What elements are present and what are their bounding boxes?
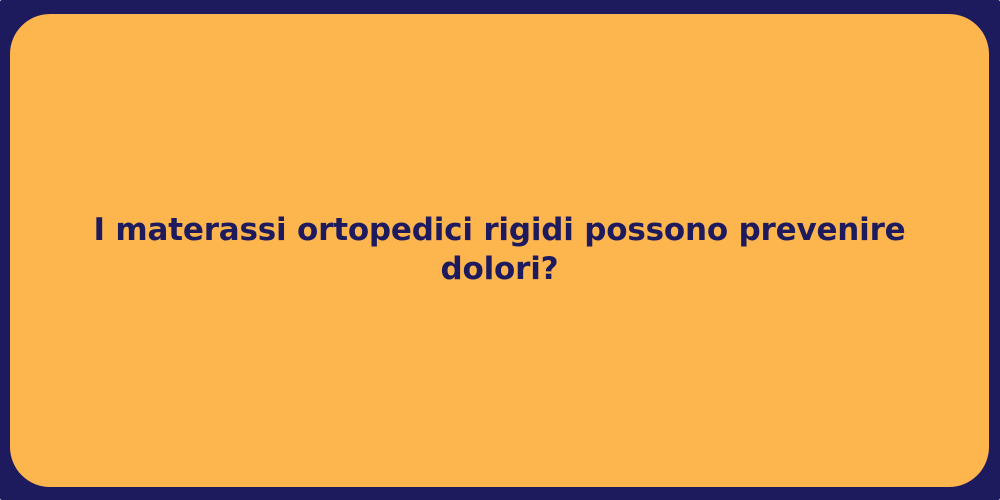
question-card-frame: I materassi ortopedici rigidi possono pr… [0, 0, 1000, 500]
question-card-panel: I materassi ortopedici rigidi possono pr… [10, 14, 989, 487]
page-title: I materassi ortopedici rigidi possono pr… [10, 211, 989, 289]
